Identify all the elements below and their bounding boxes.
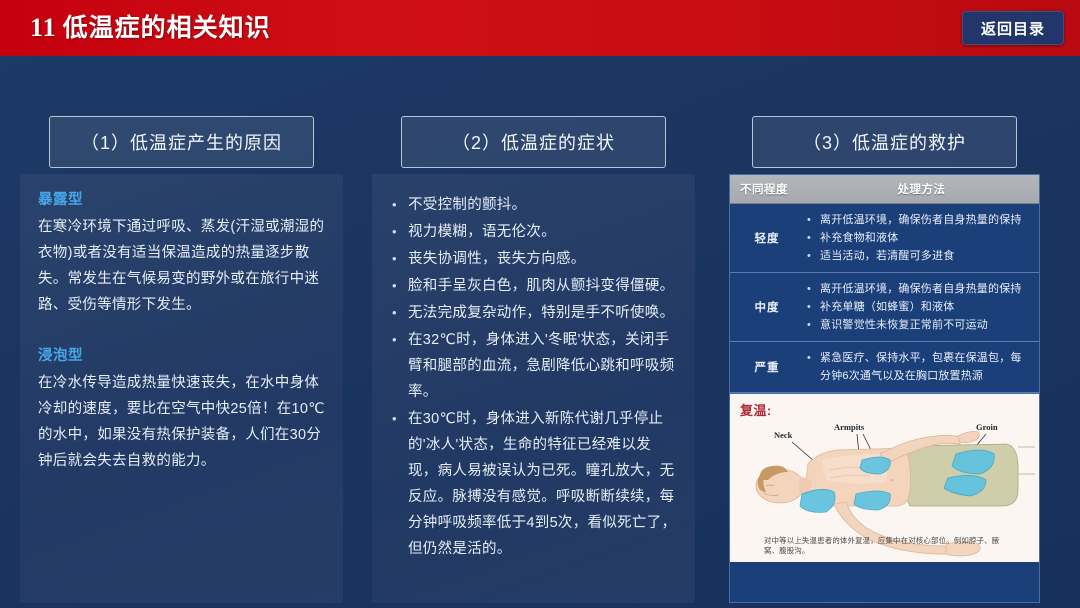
table-row: 中度 离开低温环境，确保伤者自身热量的保持 补充单糖（如蜂蜜）和液体 意识警觉性…: [730, 273, 1039, 342]
page-title-number: 11: [30, 13, 57, 42]
illustration-caption: 对中等以上失温患者的体外复温，应集中在对核心部位。例如脖子、腋窝、腹股沟。: [764, 536, 1014, 556]
illustration-label-groin: Groin: [976, 422, 998, 432]
column-causes-heading: （1）低温症产生的原因: [49, 116, 314, 168]
illustration-title: 复温:: [740, 400, 772, 419]
section-spacer: [38, 318, 325, 344]
table-row: 严重 紧急医疗、保持水平，包裹在保温包，每分钟6次通气以及在胸口放置热源: [730, 342, 1039, 393]
illustration-label-armpits: Armpits: [834, 422, 864, 432]
section-exposure: 暴露型 在寒冷环境下通过呼吸、蒸发(汗湿或潮湿的衣物)或者没有适当保温造成的热量…: [38, 188, 325, 318]
table-header-row: 不同程度 处理方法: [730, 175, 1039, 204]
table-cell-methods: 离开低温环境，确保伤者自身热量的保持 补充单糖（如蜂蜜）和液体 意识警觉性未恢复…: [804, 273, 1039, 342]
rescue-box: 不同程度 处理方法 轻度 离开低温环境，确保伤者自身热量的保持 补充食物和液体 …: [729, 174, 1040, 603]
section-exposure-text: 在寒冷环境下通过呼吸、蒸发(汗湿或潮湿的衣物)或者没有适当保温造成的热量逐步散失…: [38, 214, 325, 318]
column-causes: （1）低温症产生的原因 暴露型 在寒冷环境下通过呼吸、蒸发(汗湿或潮湿的衣物)或…: [20, 116, 343, 603]
list-item: 紧急医疗、保持水平，包裹在保温包，每分钟6次通气以及在胸口放置热源: [804, 349, 1031, 385]
rewarming-illustration: 复温: Neck Armpits Groin: [730, 393, 1039, 562]
column-rescue: （3）低温症的救护 不同程度 处理方法 轻度 离开低温环境，确保伤者自身热量的保…: [723, 116, 1046, 603]
column-symptoms-heading: （2）低温症的症状: [401, 116, 666, 168]
column-symptoms: （2）低温症的症状 不受控制的颤抖。 视力模糊，语无伦次。 丧失协调性，丧失方向…: [372, 116, 695, 603]
symptoms-list: 不受控制的颤抖。 视力模糊，语无伦次。 丧失协调性，丧失方向感。 脸和手呈灰白色…: [390, 188, 677, 562]
table-cell-methods: 紧急医疗、保持水平，包裹在保温包，每分钟6次通气以及在胸口放置热源: [804, 342, 1039, 393]
table-cell-level: 轻度: [730, 204, 804, 273]
section-immersion-text: 在冷水传导造成热量快速丧失，在水中身体冷却的速度，要比在空气中快25倍！在10℃…: [38, 370, 325, 474]
list-item: 适当活动，若清醒可多进食: [804, 247, 1031, 265]
list-item: 离开低温环境，确保伤者自身热量的保持: [804, 211, 1031, 229]
table-cell-level: 严重: [730, 342, 804, 393]
table-cell-level: 中度: [730, 273, 804, 342]
back-to-contents-button[interactable]: 返回目录: [962, 11, 1064, 45]
list-item: 丧失协调性，丧失方向感。: [390, 246, 677, 272]
table-header-level: 不同程度: [730, 175, 804, 204]
section-immersion: 浸泡型 在冷水传导造成热量快速丧失，在水中身体冷却的速度，要比在空气中快25倍！…: [38, 344, 325, 474]
list-item: 视力模糊，语无伦次。: [390, 219, 677, 245]
list-item: 不受控制的颤抖。: [390, 192, 677, 218]
method-list: 离开低温环境，确保伤者自身热量的保持 补充单糖（如蜂蜜）和液体 意识警觉性未恢复…: [804, 280, 1031, 334]
method-list: 离开低温环境，确保伤者自身热量的保持 补充食物和液体 适当活动，若清醒可多进食: [804, 211, 1031, 265]
table-header-method: 处理方法: [804, 175, 1039, 204]
page-title-text: 低温症的相关知识: [63, 14, 271, 42]
list-item: 离开低温环境，确保伤者自身热量的保持: [804, 280, 1031, 298]
list-item: 补充单糖（如蜂蜜）和液体: [804, 298, 1031, 316]
column-causes-body: 暴露型 在寒冷环境下通过呼吸、蒸发(汗湿或潮湿的衣物)或者没有适当保温造成的热量…: [20, 174, 343, 603]
content-area: （1）低温症产生的原因 暴露型 在寒冷环境下通过呼吸、蒸发(汗湿或潮湿的衣物)或…: [0, 56, 1080, 608]
list-item: 无法完成复杂动作，特别是手不听使唤。: [390, 300, 677, 326]
list-item: 在30℃时，身体进入新陈代谢几乎停止的'冰人'状态，生命的特征已经难以发现，病人…: [390, 406, 677, 562]
column-symptoms-body: 不受控制的颤抖。 视力模糊，语无伦次。 丧失协调性，丧失方向感。 脸和手呈灰白色…: [372, 174, 695, 603]
table-cell-methods: 离开低温环境，确保伤者自身热量的保持 补充食物和液体 适当活动，若清醒可多进食: [804, 204, 1039, 273]
section-exposure-title: 暴露型: [38, 188, 325, 209]
list-item: 脸和手呈灰白色，肌肉从颤抖变得僵硬。: [390, 273, 677, 299]
list-item: 意识警觉性未恢复正常前不可运动: [804, 316, 1031, 334]
column-rescue-heading: （3）低温症的救护: [752, 116, 1017, 168]
table-row: 轻度 离开低温环境，确保伤者自身热量的保持 补充食物和液体 适当活动，若清醒可多…: [730, 204, 1039, 273]
method-list: 紧急医疗、保持水平，包裹在保温包，每分钟6次通气以及在胸口放置热源: [804, 349, 1031, 385]
list-item: 在32℃时，身体进入'冬眠'状态，关闭手臂和腿部的血流，急剧降低心跳和呼吸频率。: [390, 327, 677, 405]
page-header: 11低温症的相关知识 返回目录: [0, 0, 1080, 56]
list-item: 补充食物和液体: [804, 229, 1031, 247]
section-immersion-title: 浸泡型: [38, 344, 325, 365]
illustration-label-neck: Neck: [774, 430, 792, 440]
rescue-table: 不同程度 处理方法 轻度 离开低温环境，确保伤者自身热量的保持 补充食物和液体 …: [730, 175, 1039, 393]
page-title: 11低温症的相关知识: [30, 15, 271, 41]
